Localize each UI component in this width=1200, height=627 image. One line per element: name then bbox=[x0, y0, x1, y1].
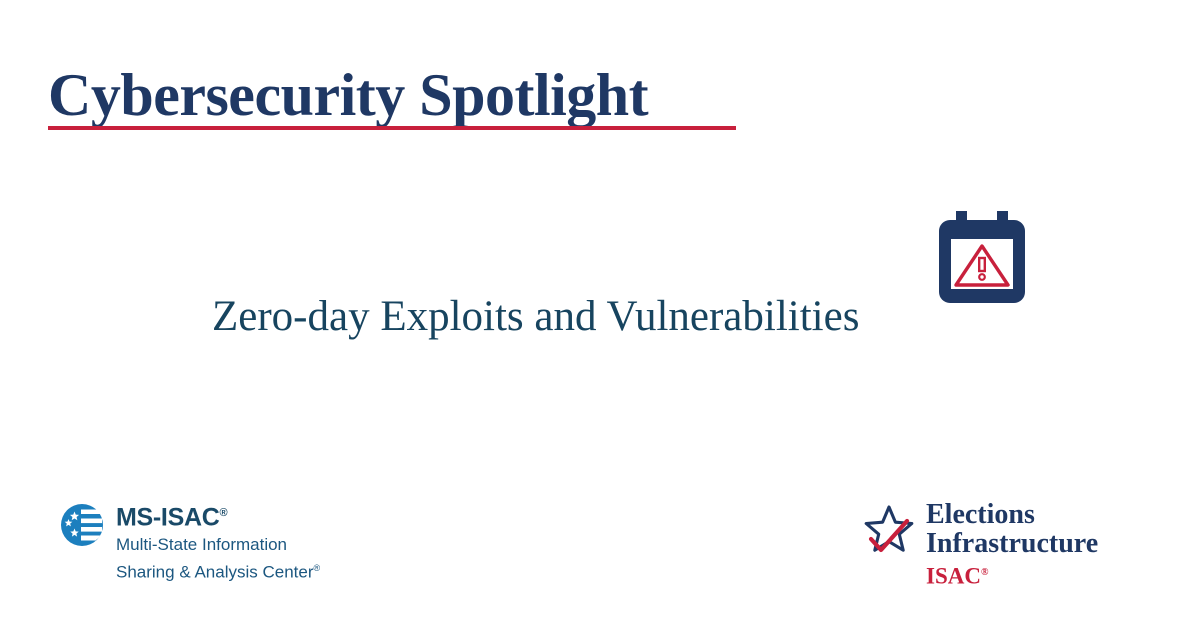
ei-isac-trademark: ® bbox=[981, 567, 988, 578]
ms-isac-name-text: MS-ISAC bbox=[116, 503, 219, 531]
ms-isac-tagline-line-1: Multi-State Information bbox=[116, 534, 320, 555]
page-title: Cybersecurity Spotlight bbox=[48, 62, 748, 128]
title-underline-rule bbox=[48, 126, 736, 130]
ms-isac-tagline-line-2: Sharing & Analysis Center® bbox=[116, 558, 320, 583]
ms-isac-tagline-trademark: ® bbox=[314, 563, 321, 573]
subtitle-block: Zero-day Exploits and Vulnerabilities bbox=[212, 292, 1002, 342]
ms-isac-tagline-line-2-text: Sharing & Analysis Center bbox=[116, 563, 314, 582]
ms-isac-logo: MS-ISAC® Multi-State Information Sharing… bbox=[60, 500, 320, 583]
ms-isac-name: MS-ISAC® bbox=[116, 500, 320, 531]
ei-isac-line-elections: Elections bbox=[926, 500, 1098, 529]
ei-isac-logo: Elections Infrastructure ISAC® bbox=[862, 500, 1098, 590]
title-block: Cybersecurity Spotlight bbox=[48, 62, 748, 128]
elections-star-check-mark bbox=[862, 504, 916, 556]
slide-canvas: Cybersecurity Spotlight Zero-day Exploit… bbox=[0, 0, 1200, 627]
slide-subtitle: Zero-day Exploits and Vulnerabilities bbox=[212, 292, 1002, 342]
ei-isac-line-infrastructure: Infrastructure bbox=[926, 529, 1098, 558]
ei-isac-line-isac: ISAC® bbox=[926, 560, 1098, 590]
ms-isac-name-trademark: ® bbox=[219, 507, 227, 519]
ms-isac-circle-mark bbox=[60, 503, 104, 547]
ei-isac-line-isac-text: ISAC bbox=[926, 564, 981, 589]
calendar-warning-icon bbox=[937, 211, 1029, 303]
ei-isac-wordmark: Elections Infrastructure ISAC® bbox=[926, 500, 1098, 590]
ms-isac-wordmark: MS-ISAC® Multi-State Information Sharing… bbox=[116, 500, 320, 583]
